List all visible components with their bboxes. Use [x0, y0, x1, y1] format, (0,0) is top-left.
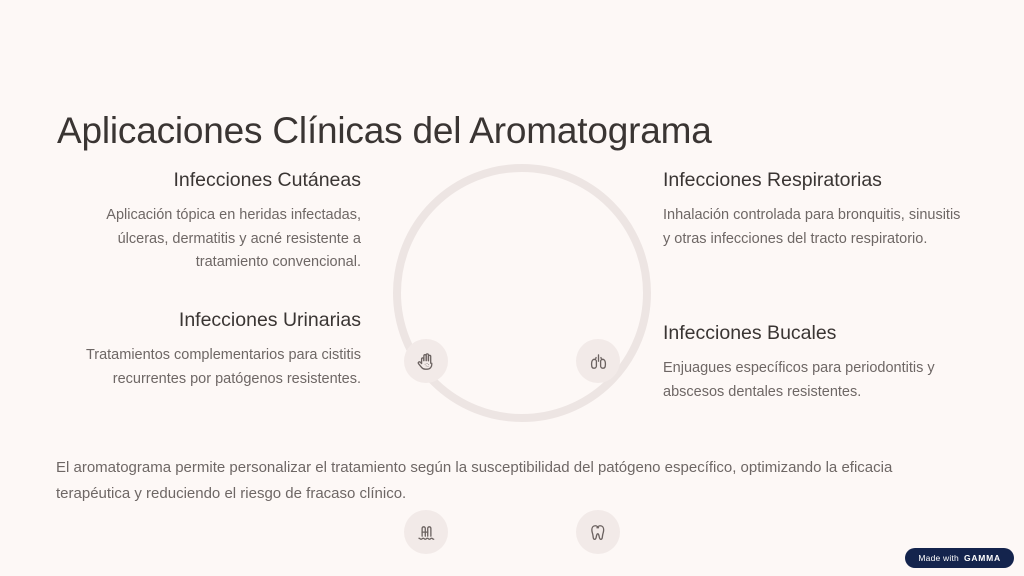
made-with-gamma-badge[interactable]: Made with GAMMA	[905, 548, 1014, 568]
info-block-urinarias: Infecciones Urinarias Tratamientos compl…	[56, 308, 361, 391]
diagram-ring	[382, 153, 662, 433]
badge-brand-label: GAMMA	[964, 553, 1001, 563]
slide-root: Aplicaciones Clínicas del Aromatograma	[0, 0, 1024, 576]
info-block-cutaneas: Infecciones Cutáneas Aplicación tópica e…	[56, 168, 361, 275]
node-respiratorias[interactable]	[576, 339, 620, 383]
block-body: Tratamientos complementarios para cistit…	[56, 344, 361, 391]
urinary-water-icon	[416, 522, 437, 543]
info-block-bucales: Infecciones Bucales Enjuagues específico…	[663, 321, 968, 404]
block-heading: Infecciones Urinarias	[56, 308, 361, 332]
badge-prefix-label: Made with	[918, 553, 959, 563]
block-heading: Infecciones Respiratorias	[663, 168, 968, 192]
block-heading: Infecciones Bucales	[663, 321, 968, 345]
block-body: Inhalación controlada para bronquitis, s…	[663, 204, 968, 251]
block-heading: Infecciones Cutáneas	[56, 168, 361, 192]
node-urinarias[interactable]	[404, 510, 448, 554]
hand-rash-icon	[416, 351, 437, 372]
page-title: Aplicaciones Clínicas del Aromatograma	[57, 110, 712, 153]
node-bucales[interactable]	[576, 510, 620, 554]
lungs-icon	[588, 351, 609, 372]
node-cutaneas[interactable]	[404, 339, 448, 383]
block-body: Aplicación tópica en heridas infectadas,…	[56, 204, 361, 274]
block-body: Enjuagues específicos para periodontitis…	[663, 357, 968, 404]
tooth-icon	[588, 522, 609, 543]
info-block-respiratorias: Infecciones Respiratorias Inhalación con…	[663, 168, 968, 251]
summary-footnote: El aromatograma permite personalizar el …	[56, 455, 968, 507]
